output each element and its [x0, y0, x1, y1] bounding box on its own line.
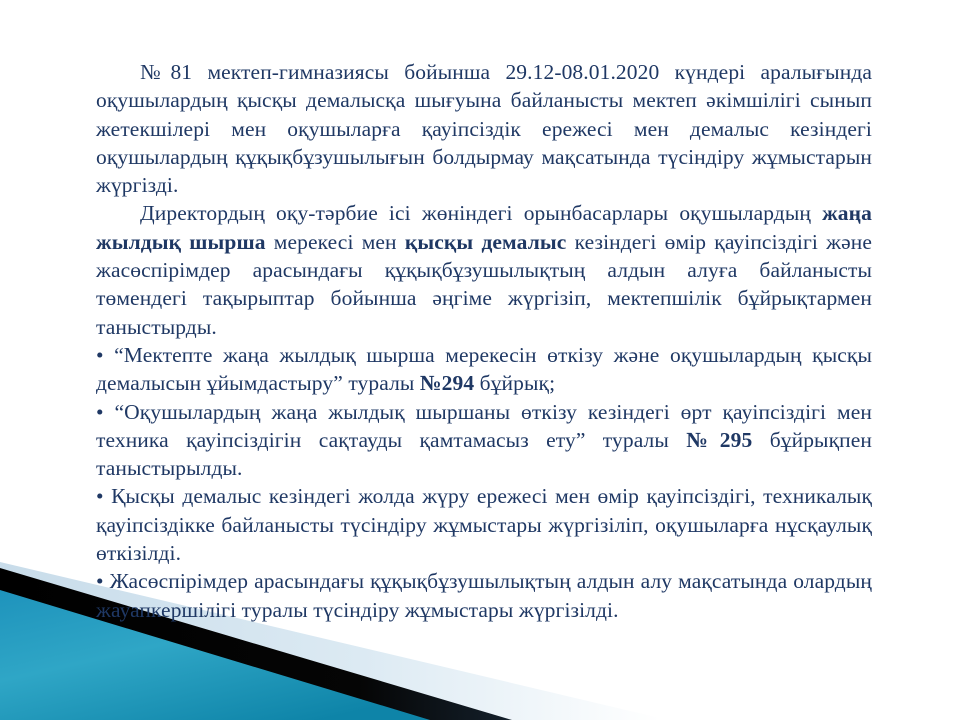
bullet-1-run-3: бұйрық; — [474, 371, 555, 395]
bullet-marker-icon: • — [96, 343, 104, 367]
bullet-marker-icon: • — [96, 400, 104, 424]
bullet-item-3: • Қысқы демалыс кезіндегі жолда жүру ере… — [96, 482, 872, 567]
bullet-item-2: • “Оқушылардың жаңа жылдық шыршаны өткіз… — [96, 398, 872, 483]
paragraph-2-bold-winter-holiday: қысқы демалыс — [405, 230, 567, 254]
bullet-2-order-number: №295 — [686, 428, 752, 452]
bullet-marker-icon: • — [96, 484, 104, 508]
paragraph-1-text: №81 мектеп-гимназиясы бойынша 29.12-08.0… — [96, 60, 872, 197]
paragraph-2-run-3: мерекесі мен — [266, 230, 405, 254]
bullet-3-text: Қысқы демалыс кезіндегі жолда жүру ереже… — [96, 484, 872, 565]
paragraph-2-run-1: Директордың оқу-тәрбие ісі жөніндегі оры… — [140, 201, 822, 225]
bullet-4-text: Жасөспірімдер арасындағы құқықбұзушылықт… — [96, 569, 872, 621]
paragraph-1: №81 мектеп-гимназиясы бойынша 29.12-08.0… — [96, 58, 872, 199]
bullet-1-order-number: №294 — [420, 371, 474, 395]
paragraph-2: Директордың оқу-тәрбие ісі жөніндегі оры… — [96, 199, 872, 340]
presentation-slide: №81 мектеп-гимназиясы бойынша 29.12-08.0… — [0, 0, 960, 720]
bullet-marker-icon: • — [96, 569, 104, 593]
slide-body-text: №81 мектеп-гимназиясы бойынша 29.12-08.0… — [96, 58, 872, 624]
bullet-item-1: • “Мектепте жаңа жылдық шырша мерекесін … — [96, 341, 872, 398]
bullet-item-4: • Жасөспірімдер арасындағы құқықбұзушылы… — [96, 567, 872, 624]
